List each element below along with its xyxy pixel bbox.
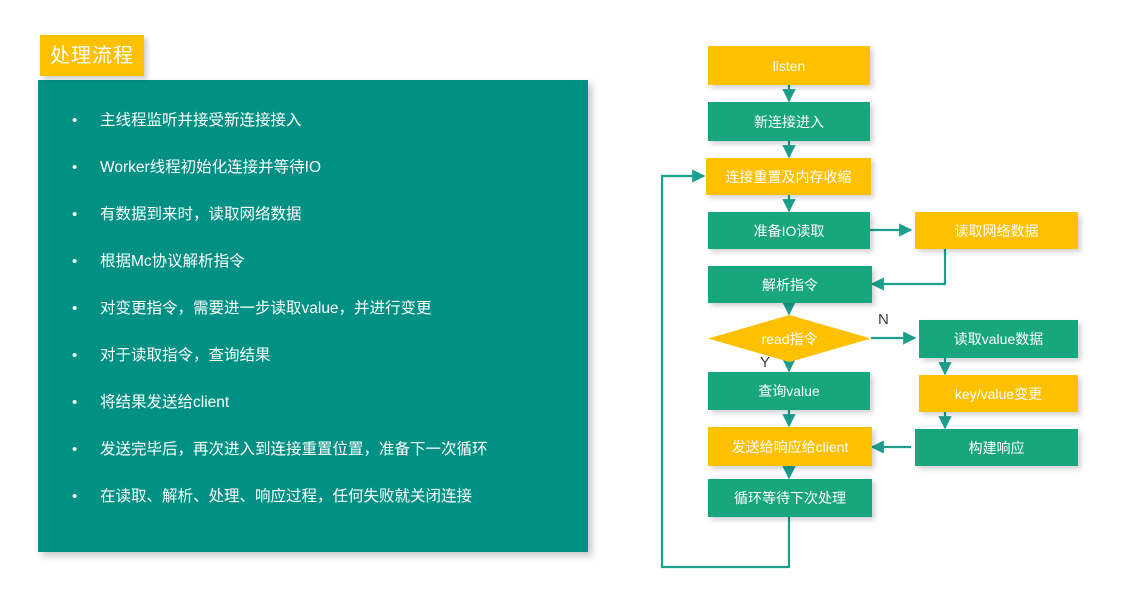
flow-node-build-response[interactable]: 构建响应 bbox=[915, 429, 1078, 466]
list-item: • 对变更指令，需要进一步读取value，并进行变更 bbox=[72, 300, 568, 347]
list-item-label: 对于读取指令，查询结果 bbox=[100, 347, 271, 366]
panel-title-label: 处理流程 bbox=[50, 46, 134, 66]
bullet-list: • 主线程监听并接受新连接接入 • Worker线程初始化连接并等待IO • 有… bbox=[38, 80, 588, 552]
list-item: • 根据Mc协议解析指令 bbox=[72, 253, 568, 300]
flow-node-label: 查询value bbox=[758, 381, 819, 401]
list-item-label: 对变更指令，需要进一步读取value，并进行变更 bbox=[100, 300, 432, 319]
flow-node-read-value-data[interactable]: 读取value数据 bbox=[919, 320, 1078, 358]
flow-node-label: 构建响应 bbox=[969, 438, 1025, 458]
list-item: • 对于读取指令，查询结果 bbox=[72, 347, 568, 394]
process-flowchart: listen 新连接进入 连接重置及内存收缩 准备IO读取 读取网络数据 解析指… bbox=[630, 0, 1123, 614]
list-item-label: 有数据到来时，读取网络数据 bbox=[100, 206, 302, 225]
flow-node-label: listen bbox=[773, 58, 806, 74]
flow-node-read-network-data[interactable]: 读取网络数据 bbox=[915, 212, 1078, 249]
bullet-dot-icon: • bbox=[72, 160, 100, 175]
list-item-label: 根据Mc协议解析指令 bbox=[100, 253, 245, 272]
bullet-dot-icon: • bbox=[72, 301, 100, 316]
bullet-dot-icon: • bbox=[72, 113, 100, 128]
flow-node-label: 解析指令 bbox=[762, 275, 818, 295]
flow-node-query-value[interactable]: 查询value bbox=[708, 372, 870, 410]
list-item-label: 主线程监听并接受新连接接入 bbox=[100, 112, 302, 131]
flow-node-label: 读取value数据 bbox=[954, 329, 1043, 349]
flow-node-label: 发送给响应给client bbox=[732, 437, 849, 457]
list-item: • 主线程监听并接受新连接接入 bbox=[72, 112, 568, 159]
bullet-dot-icon: • bbox=[72, 442, 100, 457]
list-item-label: 发送完毕后，再次进入到连接重置位置，准备下一次循环 bbox=[100, 441, 488, 460]
flow-node-label: read指令 bbox=[761, 329, 817, 349]
flow-node-parse-command[interactable]: 解析指令 bbox=[708, 266, 872, 303]
list-item: • Worker线程初始化连接并等待IO bbox=[72, 159, 568, 206]
list-item: • 在读取、解析、处理、响应过程，任何失败就关闭连接 bbox=[72, 488, 568, 535]
list-item: • 将结果发送给client bbox=[72, 394, 568, 441]
list-item-label: 将结果发送给client bbox=[100, 394, 229, 413]
bullet-dot-icon: • bbox=[72, 489, 100, 504]
flow-node-label: 连接重置及内存收缩 bbox=[726, 167, 852, 187]
edge-label-no: N bbox=[878, 312, 889, 327]
flow-node-label: 准备IO读取 bbox=[754, 221, 825, 241]
flow-node-label: 新连接进入 bbox=[754, 112, 824, 132]
bullet-dot-icon: • bbox=[72, 207, 100, 222]
list-item: • 有数据到来时，读取网络数据 bbox=[72, 206, 568, 253]
process-flow-panel: • 主线程监听并接受新连接接入 • Worker线程初始化连接并等待IO • 有… bbox=[38, 80, 588, 552]
flow-node-prepare-io-read[interactable]: 准备IO读取 bbox=[708, 212, 870, 249]
flow-node-new-connection[interactable]: 新连接进入 bbox=[708, 102, 870, 141]
flow-decision-read-command[interactable]: read指令 bbox=[708, 315, 871, 362]
bullet-dot-icon: • bbox=[72, 395, 100, 410]
flow-node-send-response-client[interactable]: 发送给响应给client bbox=[708, 427, 872, 466]
list-item-label: Worker线程初始化连接并等待IO bbox=[100, 159, 321, 178]
list-item-label: 在读取、解析、处理、响应过程，任何失败就关闭连接 bbox=[100, 488, 472, 507]
flow-node-loop-wait-next[interactable]: 循环等待下次处理 bbox=[708, 479, 872, 517]
flow-node-label: 读取网络数据 bbox=[955, 221, 1039, 241]
flow-node-kv-change[interactable]: key/value变更 bbox=[919, 375, 1078, 412]
flow-node-label: key/value变更 bbox=[955, 384, 1042, 404]
list-item: • 发送完毕后，再次进入到连接重置位置，准备下一次循环 bbox=[72, 441, 568, 488]
flow-node-label: 循环等待下次处理 bbox=[734, 488, 846, 508]
flowchart-connectors bbox=[630, 0, 1123, 614]
page-title: 处理流程 bbox=[40, 35, 144, 76]
bullet-dot-icon: • bbox=[72, 348, 100, 363]
flow-node-listen[interactable]: listen bbox=[708, 46, 870, 85]
edge-label-yes: Y bbox=[760, 355, 770, 370]
bullet-dot-icon: • bbox=[72, 254, 100, 269]
flow-node-reset-connection[interactable]: 连接重置及内存收缩 bbox=[706, 158, 871, 195]
